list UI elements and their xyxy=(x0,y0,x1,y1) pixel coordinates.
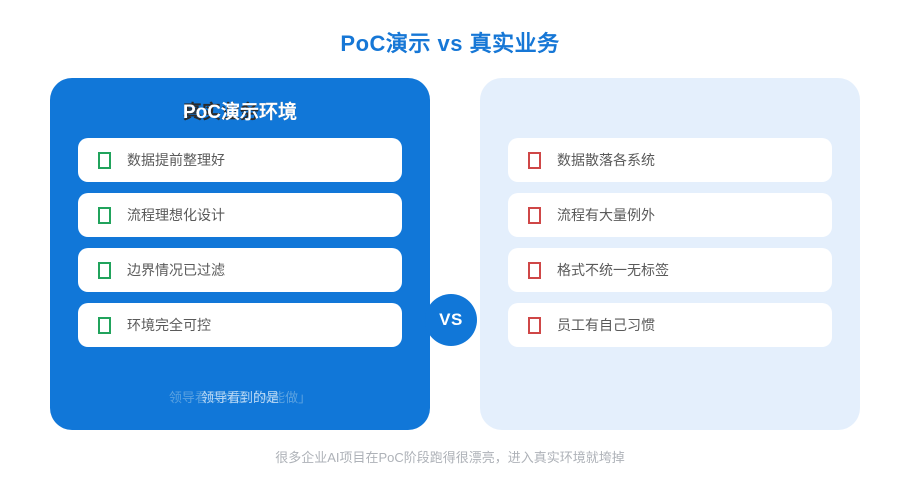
panel-real-business-list: 数据散落各系统 流程有大量例外 格式不统一无标签 员工有自己习惯 xyxy=(508,138,832,358)
list-item[interactable]: 边界情况已过滤 xyxy=(78,248,402,292)
panel-poc-demo-header-front: PoC演示环境 xyxy=(50,90,430,136)
cross-icon xyxy=(528,262,541,279)
panel-real-business: 数据散落各系统 流程有大量例外 格式不统一无标签 员工有自己习惯 xyxy=(480,78,860,430)
panel-poc-demo: 真实业务环境 PoC演示环境 数据提前整理好 流程理想化设计 边界情况已过滤 xyxy=(50,78,430,430)
panel-poc-demo-list: 数据提前整理好 流程理想化设计 边界情况已过滤 环境完全可控 xyxy=(78,138,402,358)
cross-icon xyxy=(528,152,541,169)
slide-canvas: PoC演示 vs 真实业务 真实业务环境 PoC演示环境 数据提前整理好 流程理… xyxy=(0,0,900,500)
list-item-label: 数据提前整理好 xyxy=(127,150,225,170)
list-item[interactable]: 员工有自己习惯 xyxy=(508,303,832,347)
check-icon xyxy=(98,317,111,334)
vs-badge: VS xyxy=(425,294,477,346)
check-icon xyxy=(98,152,111,169)
comparison-panels: 真实业务环境 PoC演示环境 数据提前整理好 流程理想化设计 边界情况已过滤 xyxy=(0,78,900,430)
panel-poc-demo-note: 领导看到的是「AI能做」 领导看到的是 xyxy=(50,388,430,408)
list-item-label: 流程有大量例外 xyxy=(557,205,655,225)
cross-icon xyxy=(528,317,541,334)
list-item-label: 员工有自己习惯 xyxy=(557,315,655,335)
page-title: PoC演示 vs 真实业务 xyxy=(0,26,900,58)
list-item-label: 格式不统一无标签 xyxy=(557,260,669,280)
panel-poc-demo-header: 真实业务环境 PoC演示环境 xyxy=(50,90,430,136)
footer-caption: 很多企业AI项目在PoC阶段跑得很漂亮，进入真实环境就垮掉 xyxy=(0,447,900,466)
list-item-label: 流程理想化设计 xyxy=(127,205,225,225)
cross-icon xyxy=(528,207,541,224)
panel-poc-demo-note-front: 领导看到的是 xyxy=(50,388,430,408)
list-item[interactable]: 数据散落各系统 xyxy=(508,138,832,182)
list-item[interactable]: 流程有大量例外 xyxy=(508,193,832,237)
list-item[interactable]: 数据提前整理好 xyxy=(78,138,402,182)
panel-real-business-header xyxy=(480,90,860,136)
check-icon xyxy=(98,207,111,224)
list-item[interactable]: 环境完全可控 xyxy=(78,303,402,347)
list-item[interactable]: 流程理想化设计 xyxy=(78,193,402,237)
check-icon xyxy=(98,262,111,279)
list-item-label: 数据散落各系统 xyxy=(557,150,655,170)
list-item-label: 环境完全可控 xyxy=(127,315,211,335)
list-item-label: 边界情况已过滤 xyxy=(127,260,225,280)
list-item[interactable]: 格式不统一无标签 xyxy=(508,248,832,292)
